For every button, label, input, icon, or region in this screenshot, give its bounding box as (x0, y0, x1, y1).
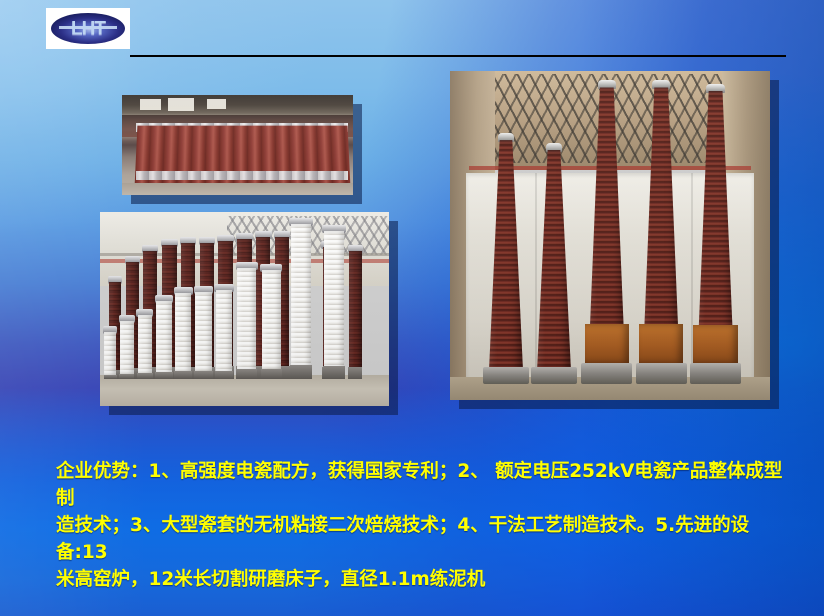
logo-letters: LHT (51, 19, 125, 38)
photo-stacked-insulators (122, 95, 353, 195)
advantages-line-2: 造技术；3、大型瓷套的无机粘接二次焙烧技术；4、干法工艺制造技术。5.先进的设备… (56, 512, 786, 566)
header-divider-rule (130, 55, 786, 57)
bushing-insulator (536, 150, 571, 384)
insulator-white (237, 268, 256, 379)
company-logo: LHT (46, 8, 130, 49)
insulator-white (262, 270, 281, 379)
insulator-white (291, 224, 311, 379)
insulator-brown (349, 251, 362, 379)
factory-floor (100, 375, 389, 406)
advantages-line-3: 米高窑炉，12米长切割研磨床子，直径1.1m练泥机 (56, 566, 786, 593)
advantages-line-1: 企业优势：1、高强度电瓷配方，获得国家专利；2、 额定电压252kV电瓷产品整体… (56, 458, 786, 512)
window-pane (168, 98, 193, 111)
logo-ellipse-icon: LHT (51, 13, 125, 44)
window-pane (207, 99, 225, 109)
insulator-white (324, 231, 344, 378)
insulator-white (138, 315, 152, 379)
warehouse-floor (122, 183, 353, 195)
bushing-insulator (488, 140, 523, 383)
photo-mixed-insulators (100, 212, 389, 406)
window-pane (140, 99, 161, 110)
insulator-white (216, 290, 233, 379)
bushing-insulator (588, 87, 626, 383)
advantages-text-block: 企业优势：1、高强度电瓷配方，获得国家专利；2、 额定电压252kV电瓷产品整体… (56, 458, 786, 593)
photo-tall-bushings (450, 71, 770, 400)
insulator-white (195, 292, 211, 379)
bushing-insulator (642, 87, 680, 383)
bushing-insulator (696, 91, 734, 384)
insulator-white (175, 293, 191, 378)
slide-canvas: LHT (0, 0, 824, 616)
insulator-white (156, 301, 172, 379)
insulator-white (104, 332, 116, 379)
insulator-white (120, 321, 133, 379)
insulator-cap-row (136, 171, 349, 180)
